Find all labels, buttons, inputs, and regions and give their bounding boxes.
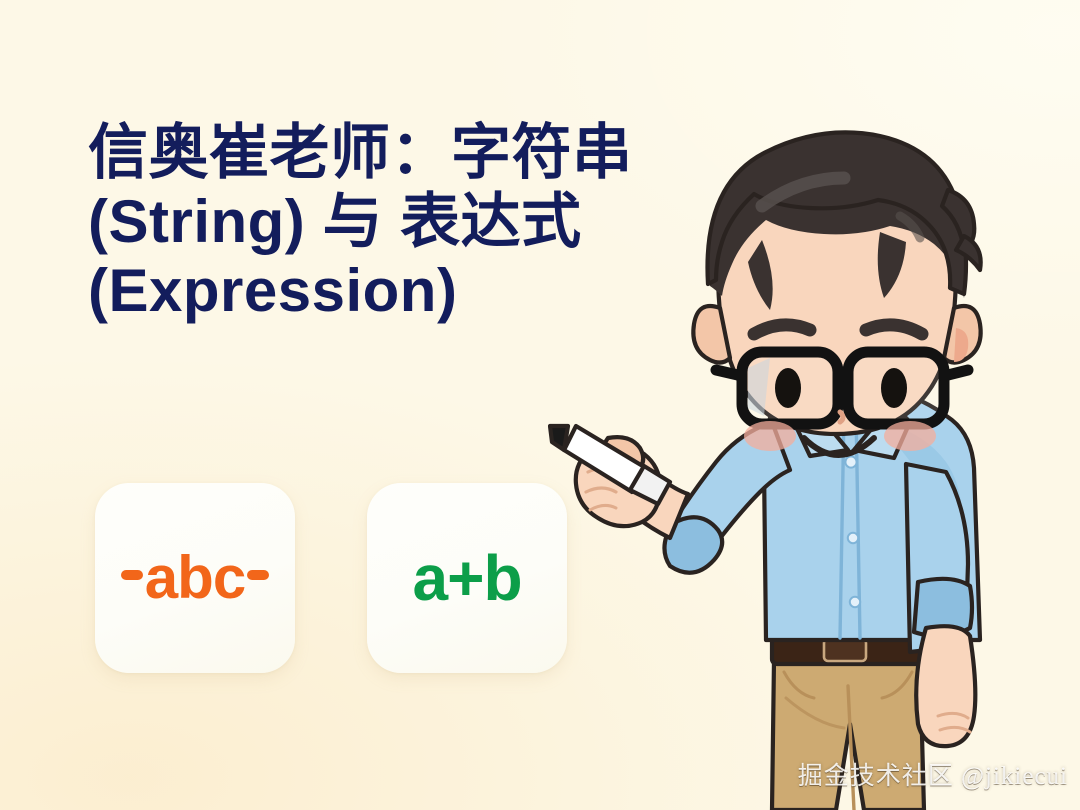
quote-dash-left-icon — [121, 570, 143, 580]
belt-buckle — [824, 639, 866, 661]
cheek-right — [884, 421, 936, 451]
marker-tip — [550, 426, 568, 450]
eye-right — [881, 368, 907, 408]
quote-dash-right-icon — [247, 570, 269, 580]
poster-canvas: 信奥崔老师：字符串 (String) 与 表达式 (Expression) ab… — [0, 0, 1080, 810]
eye-left — [775, 368, 801, 408]
watermark: 掘金技术社区 @jikiecui — [798, 756, 1068, 792]
card-expression-label: a+b — [412, 542, 521, 614]
concept-card-expression[interactable]: a+b — [367, 483, 567, 673]
nose — [840, 412, 843, 422]
card-expression-content: a+b — [412, 546, 521, 610]
cheek-left — [744, 421, 796, 451]
card-string-label: abc — [145, 544, 245, 611]
card-string-content: abc — [121, 548, 269, 608]
teacher-illustration — [548, 120, 1068, 810]
concept-card-string[interactable]: abc — [95, 483, 295, 673]
